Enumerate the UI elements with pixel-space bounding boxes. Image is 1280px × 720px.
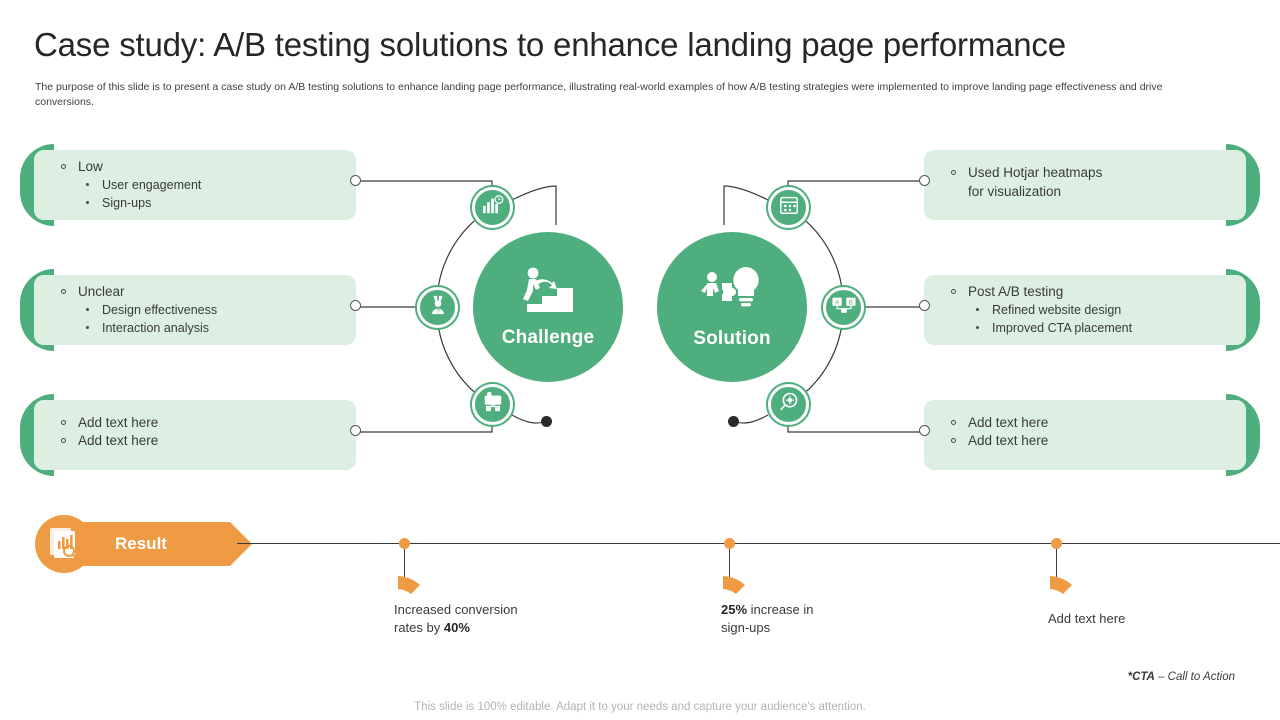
badge-arrow — [230, 522, 252, 566]
node-challenge-top[interactable] — [472, 187, 513, 228]
solution-box-1[interactable]: Used Hotjar heatmaps for visualization — [924, 150, 1246, 220]
result-badge-label: Result — [115, 534, 167, 554]
calendar-grid-icon — [778, 194, 800, 221]
result-text-1: Increased conversion rates by 40% — [394, 601, 554, 637]
challenge-box-3[interactable]: Add text here Add text here — [34, 400, 356, 470]
result-line-1: increase in — [747, 602, 813, 617]
svg-text:B: B — [848, 301, 852, 307]
cta-rest: – Call to Action — [1155, 671, 1235, 683]
box-heading: Low — [78, 158, 342, 176]
result-line-2: rates by — [394, 620, 444, 635]
person-climbing-stairs-icon — [517, 266, 579, 321]
box-bullet: Design effectiveness — [78, 301, 342, 319]
challenge-box-1[interactable]: Low User engagement Sign-ups — [34, 150, 356, 220]
box-body: Add text here Add text here — [34, 400, 356, 470]
solution-label: Solution — [693, 328, 771, 350]
connector-knob[interactable] — [919, 175, 930, 186]
result-text-3: Add text here — [1048, 610, 1208, 628]
result-icon-circle — [35, 515, 93, 573]
gear-magnifier-icon — [778, 391, 800, 418]
node-challenge-middle[interactable]: ? — [417, 287, 458, 328]
box-line: Used Hotjar heatmaps — [968, 164, 1232, 182]
cta-note: *CTA – Call to Action — [1128, 671, 1235, 683]
result-text-2: 25% increase in sign-ups — [721, 601, 881, 637]
box-line: Add text here — [78, 432, 342, 450]
person-lightbulb-puzzle-icon — [700, 265, 764, 322]
result-metric-2: 25% — [721, 602, 747, 617]
box-body: Used Hotjar heatmaps for visualization — [924, 150, 1246, 220]
solution-box-3[interactable]: Add text here Add text here — [924, 400, 1246, 470]
page-title: Case study: A/B testing solutions to enh… — [34, 26, 1234, 64]
svg-text:A: A — [835, 301, 839, 307]
node-solution-middle[interactable]: A B — [823, 287, 864, 328]
person-question-icon: ? — [427, 294, 449, 321]
slide-root: Case study: A/B testing solutions to enh… — [0, 0, 1280, 720]
result-line-2: sign-ups — [721, 620, 770, 635]
slide-footer-note: This slide is 100% editable. Adapt it to… — [0, 701, 1280, 713]
challenge-label: Challenge — [502, 327, 595, 349]
cta-abbr: *CTA — [1128, 671, 1155, 683]
bar-chart-clock-icon — [482, 195, 504, 220]
result-line-1: Increased conversion — [394, 602, 518, 617]
box-heading: Post A/B testing — [968, 283, 1232, 301]
node-challenge-bottom[interactable] — [472, 384, 513, 425]
box-body: Post A/B testing Refined website design … — [924, 275, 1246, 345]
document-chart-search-icon — [47, 525, 81, 564]
solution-box-2[interactable]: Post A/B testing Refined website design … — [924, 275, 1246, 345]
timeline-dot — [399, 538, 410, 549]
box-line: Add text here — [968, 432, 1232, 450]
timeline-dot — [724, 538, 735, 549]
node-solution-bottom[interactable] — [768, 384, 809, 425]
connector-knob[interactable] — [350, 175, 361, 186]
solution-circle[interactable]: Solution — [657, 232, 807, 382]
box-line: Add text here — [78, 414, 342, 432]
box-bullet: Improved CTA placement — [968, 319, 1232, 337]
node-solution-top[interactable] — [768, 187, 809, 228]
challenge-circle[interactable]: Challenge — [473, 232, 623, 382]
box-body: Unclear Design effectiveness Interaction… — [34, 275, 356, 345]
connector-knob[interactable] — [350, 300, 361, 311]
box-bullet: Refined website design — [968, 301, 1232, 319]
box-body: Add text here Add text here — [924, 400, 1246, 470]
result-timeline — [237, 543, 1280, 544]
box-body: Low User engagement Sign-ups — [34, 150, 356, 220]
box-line: for visualization — [968, 182, 1232, 201]
svg-text:?: ? — [436, 308, 440, 315]
page-subtitle: The purpose of this slide is to present … — [35, 80, 1215, 109]
box-bullet: Sign-ups — [78, 194, 342, 212]
box-bullet: Interaction analysis — [78, 319, 342, 337]
result-metric-1: 40% — [444, 620, 470, 635]
box-heading: Unclear — [78, 283, 342, 301]
timeline-dot — [1051, 538, 1062, 549]
solution-end-dot — [728, 416, 739, 427]
connector-knob[interactable] — [919, 425, 930, 436]
result-line-1: Add text here — [1048, 611, 1125, 626]
gear-presentation-icon — [482, 391, 504, 418]
connector-knob[interactable] — [919, 300, 930, 311]
connector-knob[interactable] — [350, 425, 361, 436]
box-bullet: User engagement — [78, 176, 342, 194]
ab-screens-icon: A B — [832, 295, 856, 320]
challenge-box-2[interactable]: Unclear Design effectiveness Interaction… — [34, 275, 356, 345]
result-badge[interactable]: Result — [75, 522, 230, 566]
box-line: Add text here — [968, 414, 1232, 432]
challenge-end-dot — [541, 416, 552, 427]
